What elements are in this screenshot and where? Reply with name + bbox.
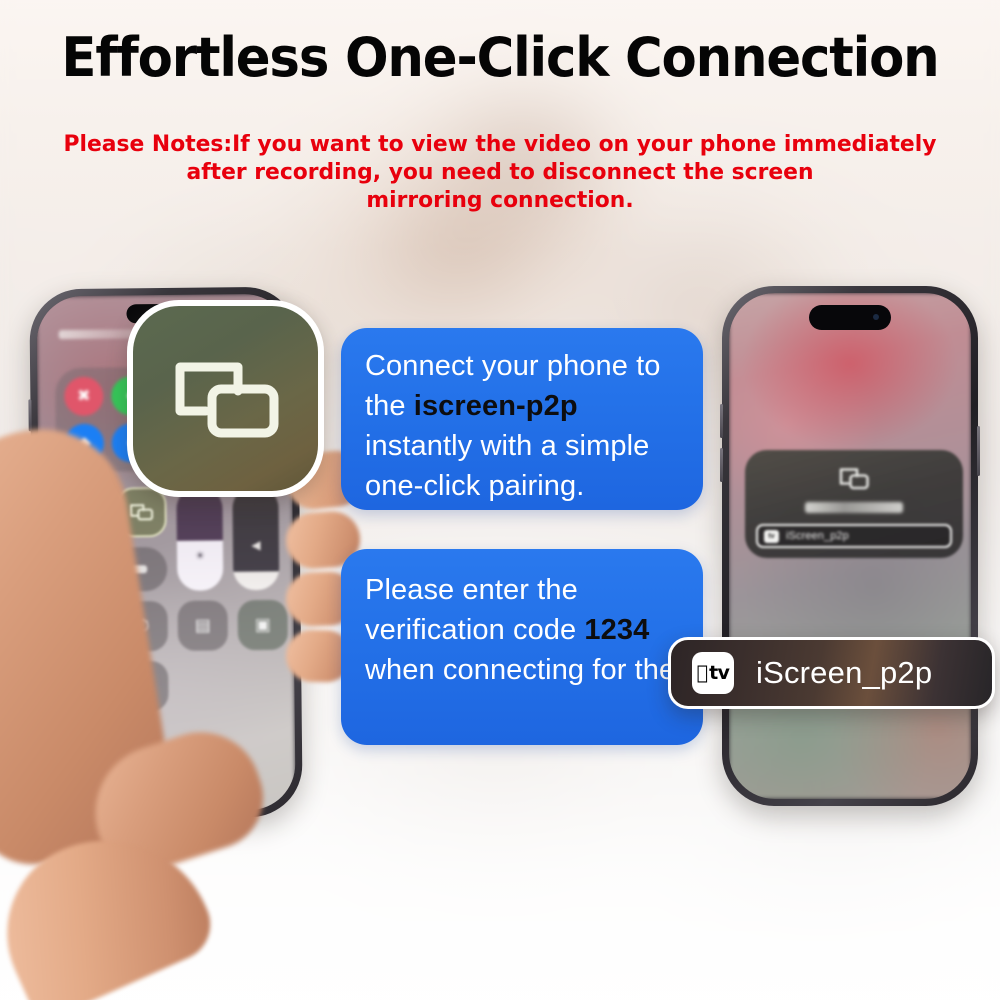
apple-logo-icon:  xyxy=(697,664,708,683)
airplane-icon: ✖ xyxy=(64,377,103,416)
volume-up-button[interactable] xyxy=(28,399,31,431)
warning-note-line-1: Please Notes:If you want to view the vid… xyxy=(44,130,956,158)
screen-mirroring-icon-callout xyxy=(127,300,324,497)
appletv-logo-icon:  tv xyxy=(692,652,734,694)
calculator-icon: ▤ xyxy=(195,616,211,636)
warning-note: Please Notes:If you want to view the vid… xyxy=(44,130,956,214)
callout-bubble-verification-text: Please enter the verification code 1234 … xyxy=(365,570,683,690)
appletv-device-pill[interactable]:  tv iScreen_p2p xyxy=(668,637,995,709)
callout-bubble-verification: Please enter the verification code 1234 … xyxy=(341,549,703,745)
airplane-mode-toggle[interactable]: ✖ xyxy=(64,377,103,416)
callout-bubble-connect: Connect your phone to the iscreen-p2p in… xyxy=(341,328,703,510)
dynamic-island xyxy=(809,305,891,330)
bubble-1-bold: iscreen-p2p xyxy=(414,390,578,422)
calculator-tile[interactable]: ▤ xyxy=(178,600,229,651)
bubble-2-after: when connecting for the xyxy=(365,654,675,686)
bubble-2-bold: 1234 xyxy=(584,614,649,646)
camera-tile[interactable]: ▣ xyxy=(237,600,288,651)
screen-mirroring-icon xyxy=(166,351,286,447)
mirroring-device-name: iScreen_p2p xyxy=(786,530,849,542)
volume-down-button-right[interactable] xyxy=(720,448,723,482)
bubble-2-before: Please enter the verification code xyxy=(365,574,584,646)
right-phone-device: tv iScreen_p2p xyxy=(722,286,978,806)
mirroring-device-row[interactable]: tv iScreen_p2p xyxy=(756,524,952,548)
appletv-chip-icon: tv xyxy=(764,530,779,543)
promo-page: Effortless One-Click Connection Please N… xyxy=(0,0,1000,1000)
screen-mirroring-icon xyxy=(128,502,154,522)
right-phone-screen: tv iScreen_p2p xyxy=(729,293,971,799)
brightness-icon: ☀ xyxy=(195,549,206,563)
callout-bubble-connect-text: Connect your phone to the iscreen-p2p in… xyxy=(365,346,683,506)
screen-mirroring-sheet-title xyxy=(805,502,903,513)
volume-icon: ◀ xyxy=(251,538,260,552)
volume-slider[interactable]: ◀ xyxy=(232,486,279,590)
volume-up-button-right[interactable] xyxy=(720,404,723,438)
screen-mirroring-icon xyxy=(838,466,870,492)
warning-note-line-2: after recording, you need to disconnect … xyxy=(44,158,956,186)
bubble-1-after: instantly with a simple one-click pairin… xyxy=(365,430,649,502)
appletv-device-label: iScreen_p2p xyxy=(756,655,932,691)
camera-icon: ▣ xyxy=(255,615,271,635)
warning-note-line-3: mirroring connection. xyxy=(44,186,956,214)
page-title: Effortless One-Click Connection xyxy=(25,24,975,92)
appletv-tv-text: tv xyxy=(709,664,729,683)
power-button-right[interactable] xyxy=(977,426,980,476)
screen-mirroring-sheet: tv iScreen_p2p xyxy=(745,450,963,558)
brightness-slider[interactable]: ☀ xyxy=(176,486,223,590)
